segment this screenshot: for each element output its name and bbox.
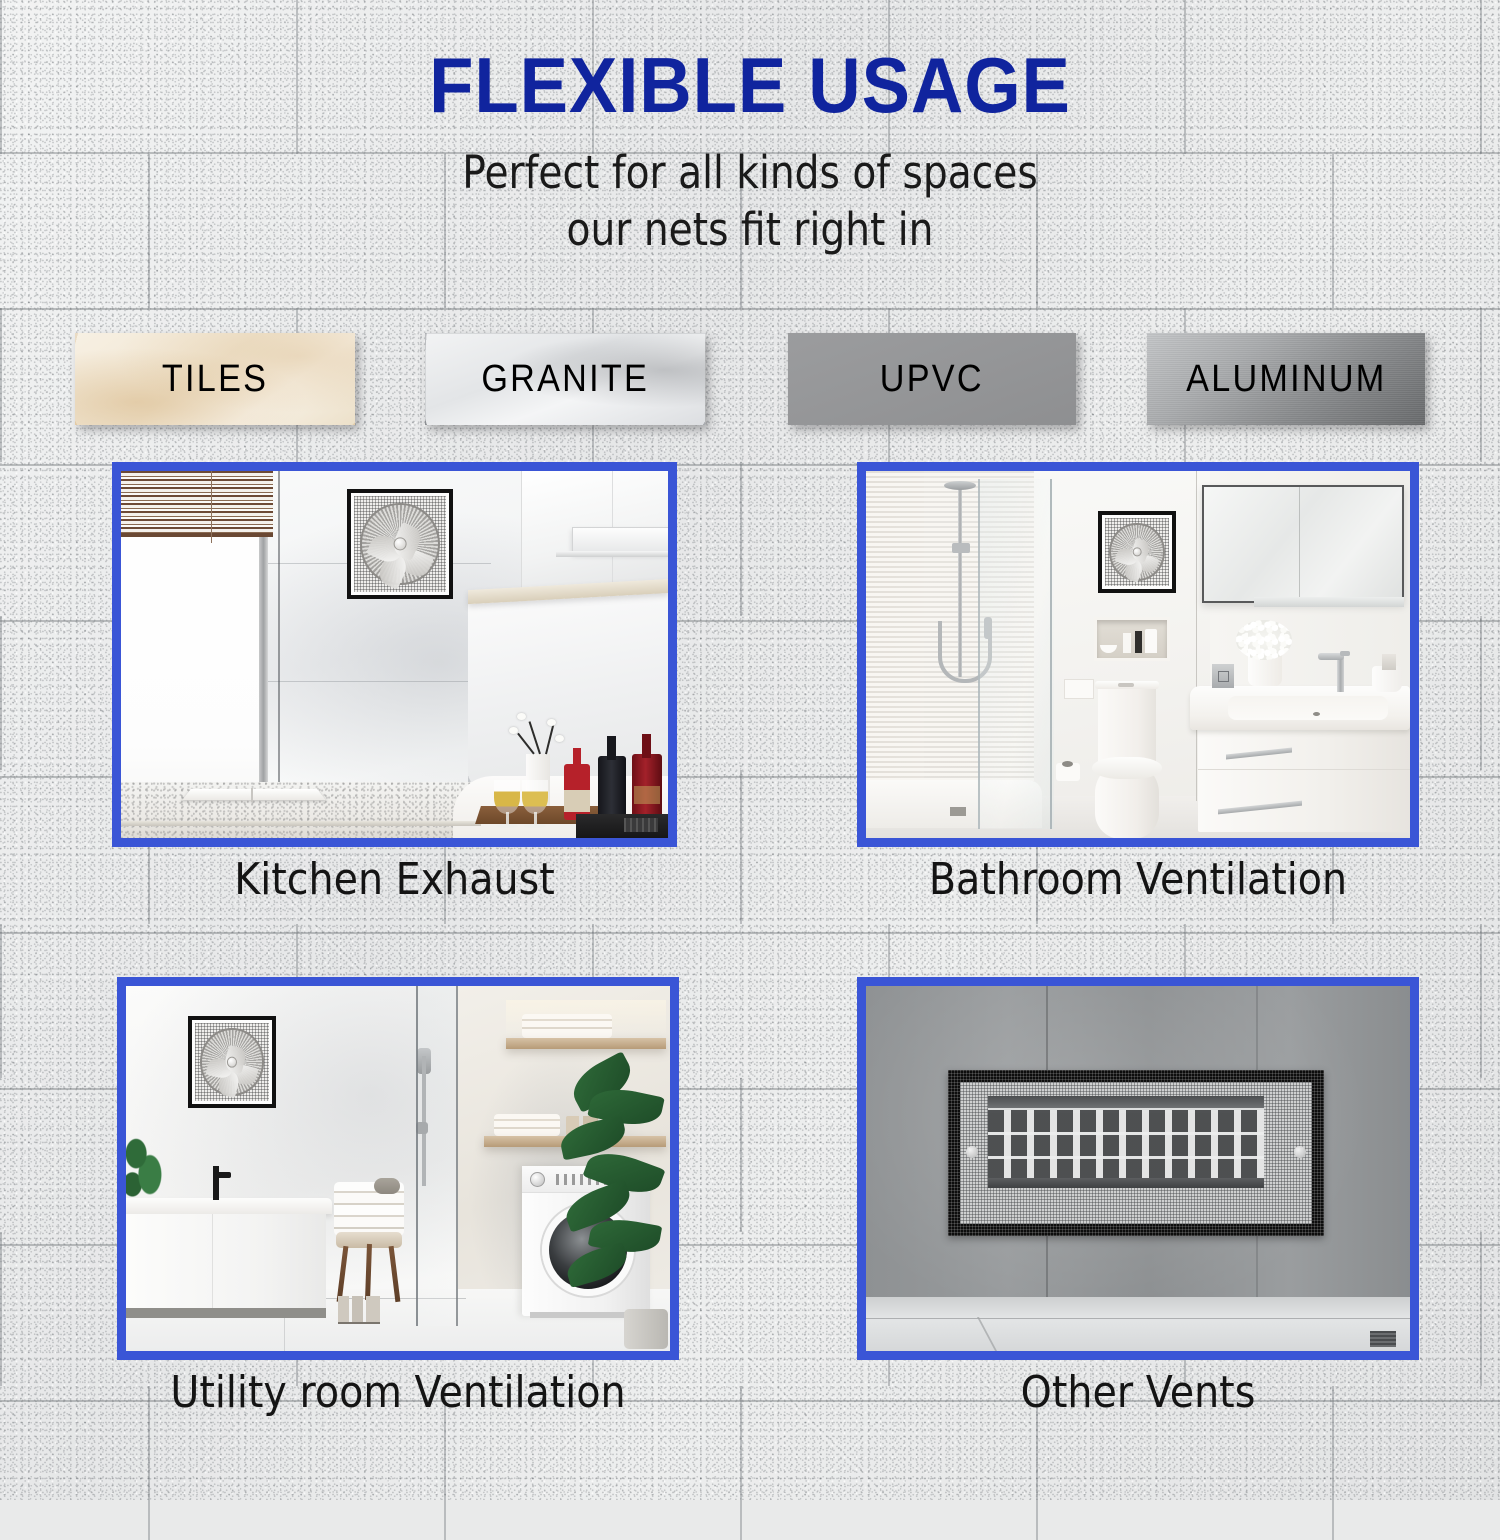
bathroom-scene [866,471,1410,838]
window-blinds [121,471,273,537]
light-switch-rocker [1218,671,1229,682]
shower-glass-panel [978,479,1054,829]
floor-surface [866,1297,1410,1351]
mirror-cabinet-lip [1254,597,1404,607]
material-badge-upvc[interactable]: UPVC [788,333,1076,425]
shower-slider [952,543,970,553]
toilet-paper-holder [1062,761,1073,767]
material-badge-row: TILES GRANITE UPVC ALUMINUM [0,333,1500,429]
shower-riser-rail [422,1056,426,1186]
exhaust-fan-icon [347,489,453,599]
flower-bloom [509,727,518,734]
fan-circle [360,503,439,586]
material-badge-granite[interactable]: GRANITE [425,333,705,425]
vent-louvers [988,1110,1264,1178]
vent-louver-divider [988,1156,1264,1159]
subtitle-line-2: our nets fit right in [98,201,1403,259]
plant-pot [624,1309,668,1349]
flower-bloom [547,719,556,726]
toilet-seat [1092,757,1162,779]
open-book [182,789,325,800]
rolled-towel [374,1178,400,1194]
flower-bloom [555,735,564,742]
fan-mesh-net [1105,518,1169,586]
niche-bottle [1123,633,1131,653]
fan-mesh-net [195,1023,269,1101]
header: FLEXIBLE USAGE Perfect for all kinds of … [0,0,1500,259]
fan-circle [200,1028,264,1095]
plant-leaf [563,1242,631,1288]
shower-glass-edge [456,986,458,1326]
mirror-cabinet [1202,485,1404,603]
other-vents-scene [866,986,1410,1351]
wine-bottle-red [564,764,590,820]
exhaust-fan-icon [188,1016,276,1108]
blinds-cord [211,471,212,543]
washbasin-drain [1313,712,1320,716]
folded-towels [494,1114,560,1136]
toilet-cistern [1098,685,1156,763]
wine-glass-base [524,824,546,828]
material-badge-label: ALUMINUM [1186,358,1386,401]
faucet-handle [1340,651,1350,656]
photo-frame [117,977,679,1360]
countertop-edge [121,821,481,826]
flush-button [1118,683,1134,687]
cabinet-plinth [126,1308,326,1318]
wine-bottle-neck [607,736,616,760]
mirror-door-seam [1299,487,1300,601]
shower-glass-edge [416,986,418,1326]
shower-glass-edge [1050,479,1052,829]
flower-bloom [517,713,526,720]
wine-glass [522,780,548,814]
page-subtitle: Perfect for all kinds of spaces our nets… [98,126,1403,259]
shower-head [944,481,976,490]
utility-cabinet [126,1214,326,1316]
material-badge-tiles[interactable]: TILES [75,333,355,425]
range-hood-lip [556,551,668,557]
niche-jar [1145,629,1157,653]
vent-screw [966,1146,978,1158]
vanity-drawer-seam [1198,769,1410,770]
vent-grille-top-edge [988,1096,1264,1108]
material-badge-label: UPVC [880,358,984,401]
washbasin-bowl [1228,696,1388,720]
shower-drain [950,807,966,816]
washing-machine-dial [530,1172,545,1187]
material-badge-label: TILES [162,358,268,401]
kitchen-scene [121,471,668,838]
fan-hub [394,537,407,550]
metal-bracket [1370,1331,1396,1347]
vent-mesh-net-frame [948,1070,1324,1236]
card-caption: Other Vents [885,1367,1391,1418]
tile-grout-line [278,471,280,814]
fan-hub [227,1057,237,1068]
wine-bottle-neck [573,748,581,768]
page-title: FLEXIBLE USAGE [53,0,1448,126]
utility-room-scene [126,986,670,1351]
photo-card-bathroom: Bathroom Ventilation [857,462,1419,847]
subtitle-line-1: Perfect for all kinds of spaces [98,144,1403,202]
cabinet-seam [212,1214,213,1316]
vent-louver-divider [988,1132,1264,1135]
material-badge-aluminum[interactable]: ALUMINUM [1147,333,1425,425]
fan-hub [1133,547,1142,556]
range-hood [572,527,668,553]
flush-plate [1064,679,1094,699]
card-caption: Kitchen Exhaust [140,854,649,905]
photo-card-utility-room: Utility room Ventilation [117,977,679,1360]
faucet-spout [213,1172,231,1178]
wine-bottle-label [634,786,660,804]
cooktop-grate [624,818,658,832]
wooden-shelf [506,1038,666,1049]
niche-bottle [1135,631,1142,653]
vent-screw [1294,1146,1306,1158]
wine-glass-base [496,824,518,828]
photo-card-other-vents: Other Vents [857,977,1419,1360]
material-badge-label: GRANITE [481,358,649,401]
book-spine [251,788,253,802]
soap-bottles [338,1296,380,1324]
folded-towels [522,1014,612,1038]
utility-countertop [126,1198,332,1214]
card-caption: Bathroom Ventilation [885,854,1391,905]
fan-mesh-net [354,496,446,592]
floor-edge-line [866,1318,1410,1319]
exhaust-fan-icon [1098,511,1176,593]
wine-glass [494,780,520,814]
wine-bottle-neck [642,734,651,758]
photo-frame [112,462,677,847]
large-plant [560,1064,670,1326]
wine-bottle-dark [598,756,626,822]
wall-niche-shelf [1094,617,1170,661]
photo-frame [857,977,1419,1360]
photo-frame [857,462,1419,847]
small-plant [126,1134,172,1204]
vent-grille-bottom-edge [988,1178,1264,1188]
fan-circle [1109,523,1164,581]
toothbrush [1382,654,1396,670]
flower-bouquet [1236,620,1292,660]
card-caption: Utility room Ventilation [145,1367,651,1418]
photo-card-kitchen: Kitchen Exhaust [112,462,677,847]
wall-corner-line [1196,471,1197,801]
